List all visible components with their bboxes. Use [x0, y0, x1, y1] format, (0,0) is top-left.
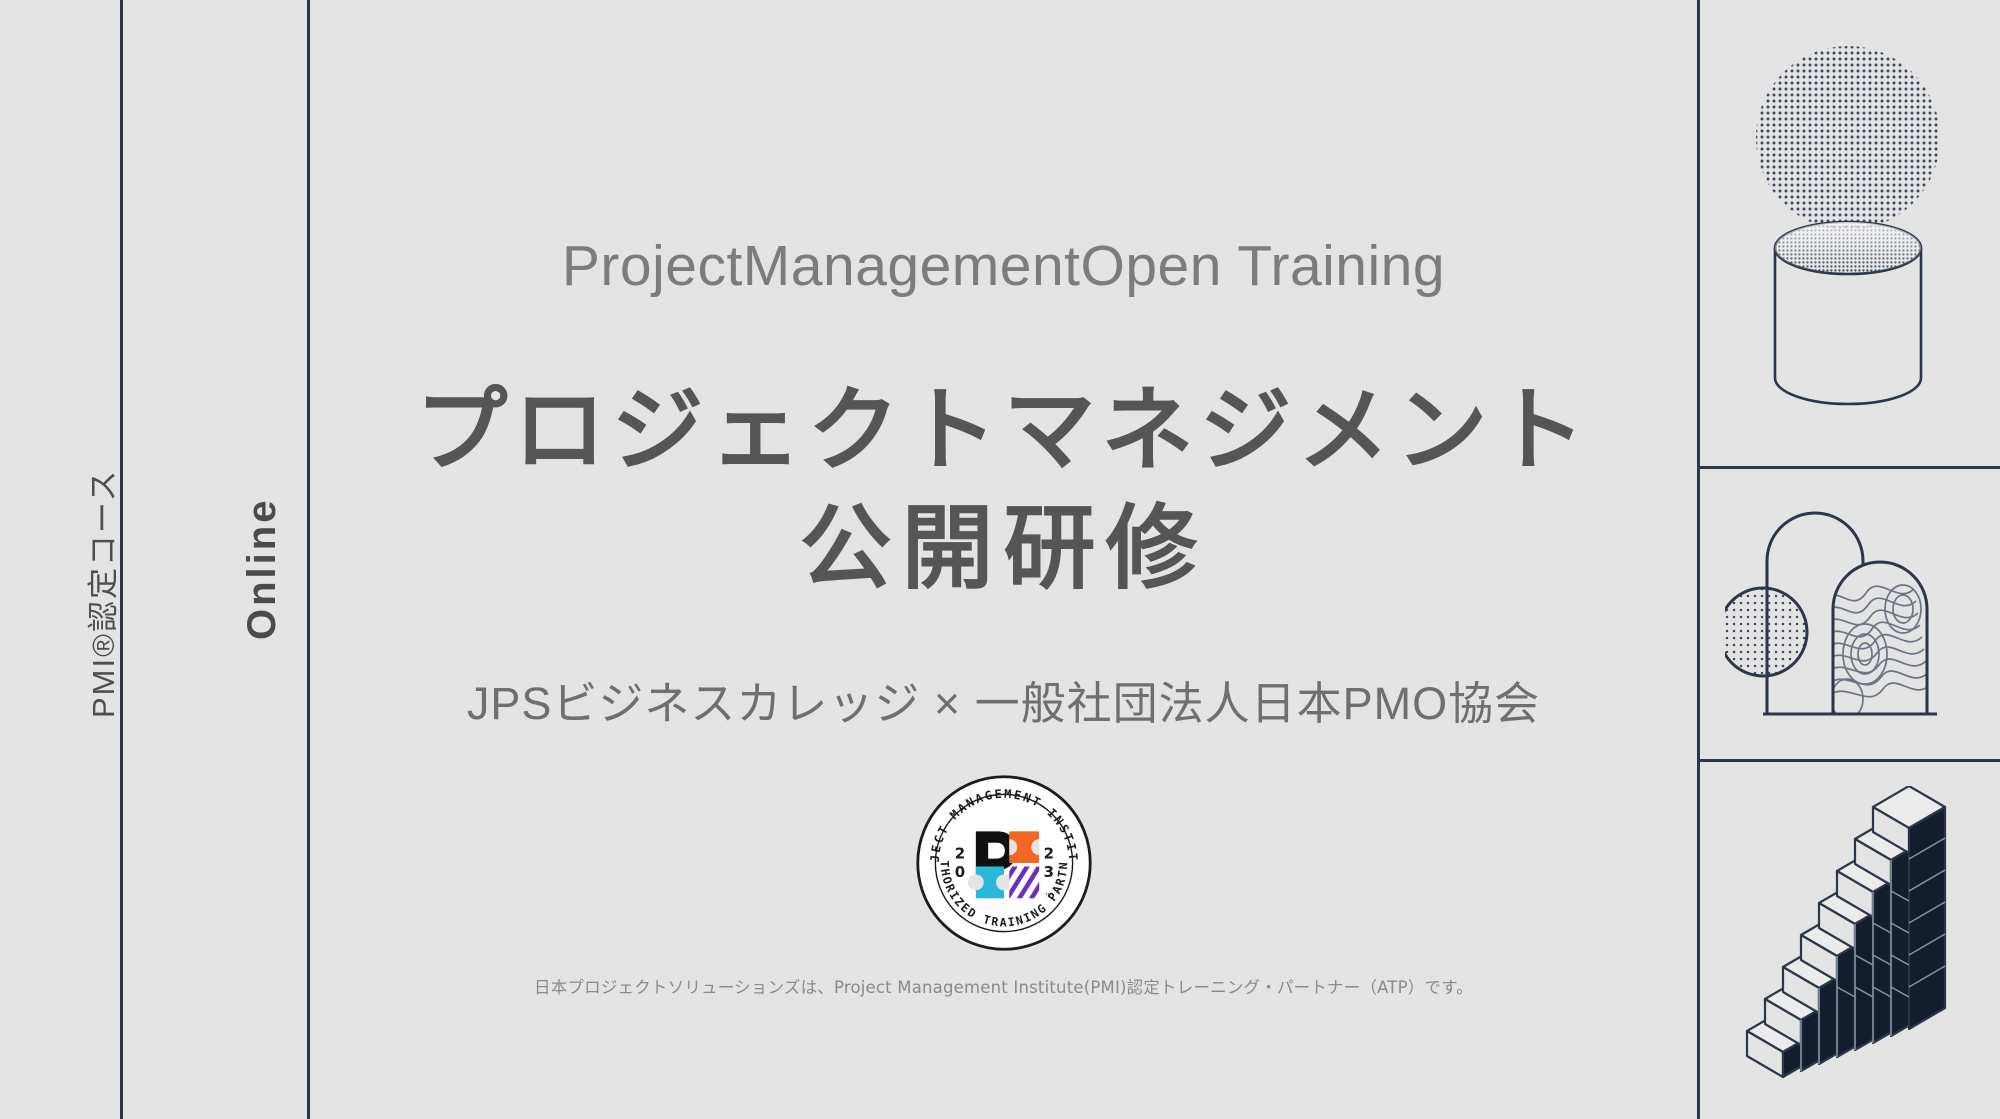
svg-text:3: 3 [1043, 863, 1053, 881]
page-title-line-1: プロジェクトマネジメント [415, 373, 1591, 491]
eyebrow-title: ProjectManagementOpen Training [562, 238, 1445, 295]
trademark-glyph: ™ [1044, 892, 1052, 901]
sphere-cylinder-icon [1730, 33, 1970, 433]
sphere-cylinder-panel [1700, 0, 2000, 466]
svg-text:0: 0 [954, 863, 964, 881]
isometric-stairs-panel [1700, 762, 2000, 1119]
svg-text:2: 2 [954, 844, 964, 862]
pmi-seal-icon: PROJECT MANAGEMENT INSTITUTE AUTHORIZED … [916, 775, 1092, 951]
arches-panel [1700, 469, 2000, 759]
partners-line: JPSビジネスカレッジ × 一般社団法人日本PMO協会 [467, 667, 1540, 732]
decorative-panels [1700, 0, 2000, 1119]
page-title: プロジェクトマネジメント 公開研修 [415, 373, 1591, 609]
side-label-online: Online [240, 498, 285, 640]
arches-icon [1725, 489, 1975, 739]
side-label-certification: PMI®認定コース [78, 469, 123, 718]
center-content: ProjectManagementOpen Training プロジェクトマネジ… [310, 0, 1697, 1119]
slide-canvas: PMI®認定コース Online ProjectManagementOpen T… [0, 0, 2000, 1119]
svg-text:2: 2 [1043, 844, 1053, 862]
pmi-seal: PROJECT MANAGEMENT INSTITUTE AUTHORIZED … [916, 775, 1092, 956]
footnote-text: 日本プロジェクトソリューションズは、Project Management Ins… [534, 974, 1473, 998]
page-title-line-2: 公開研修 [415, 491, 1591, 609]
isometric-stairs-icon [1725, 786, 1975, 1096]
